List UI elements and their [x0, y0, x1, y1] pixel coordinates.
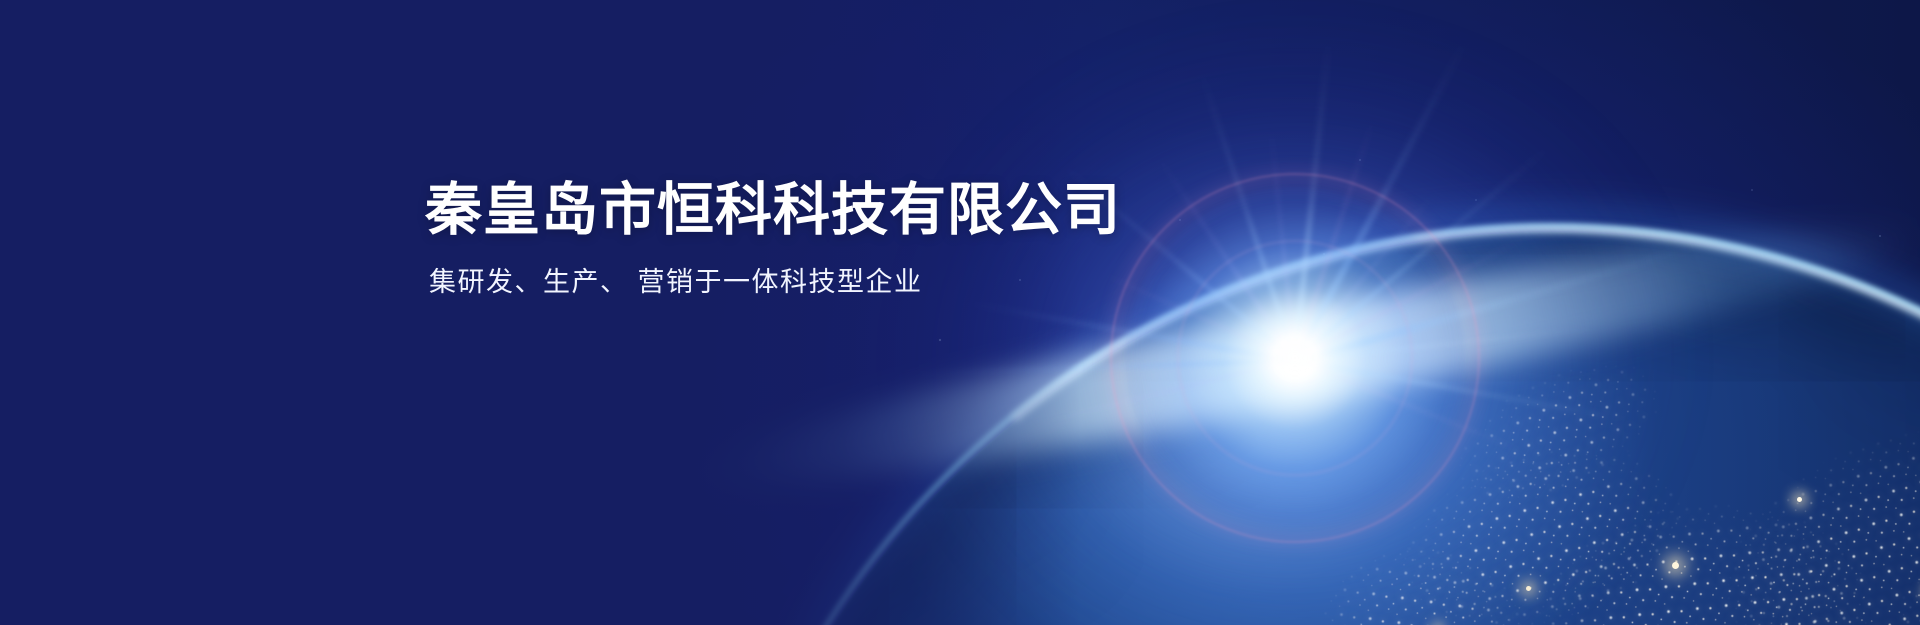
sun-core [1125, 188, 1465, 528]
space-artwork [0, 0, 1920, 625]
hero-banner: 秦皇岛市恒科科技有限公司 集研发、生产、 营销于一体科技型企业 [0, 0, 1920, 625]
page-title: 秦皇岛市恒科科技有限公司 [425, 180, 1121, 240]
page-subtitle: 集研发、生产、 营销于一体科技型企业 [429, 266, 1121, 298]
hero-copy: 秦皇岛市恒科科技有限公司 集研发、生产、 营销于一体科技型企业 [425, 180, 1121, 299]
